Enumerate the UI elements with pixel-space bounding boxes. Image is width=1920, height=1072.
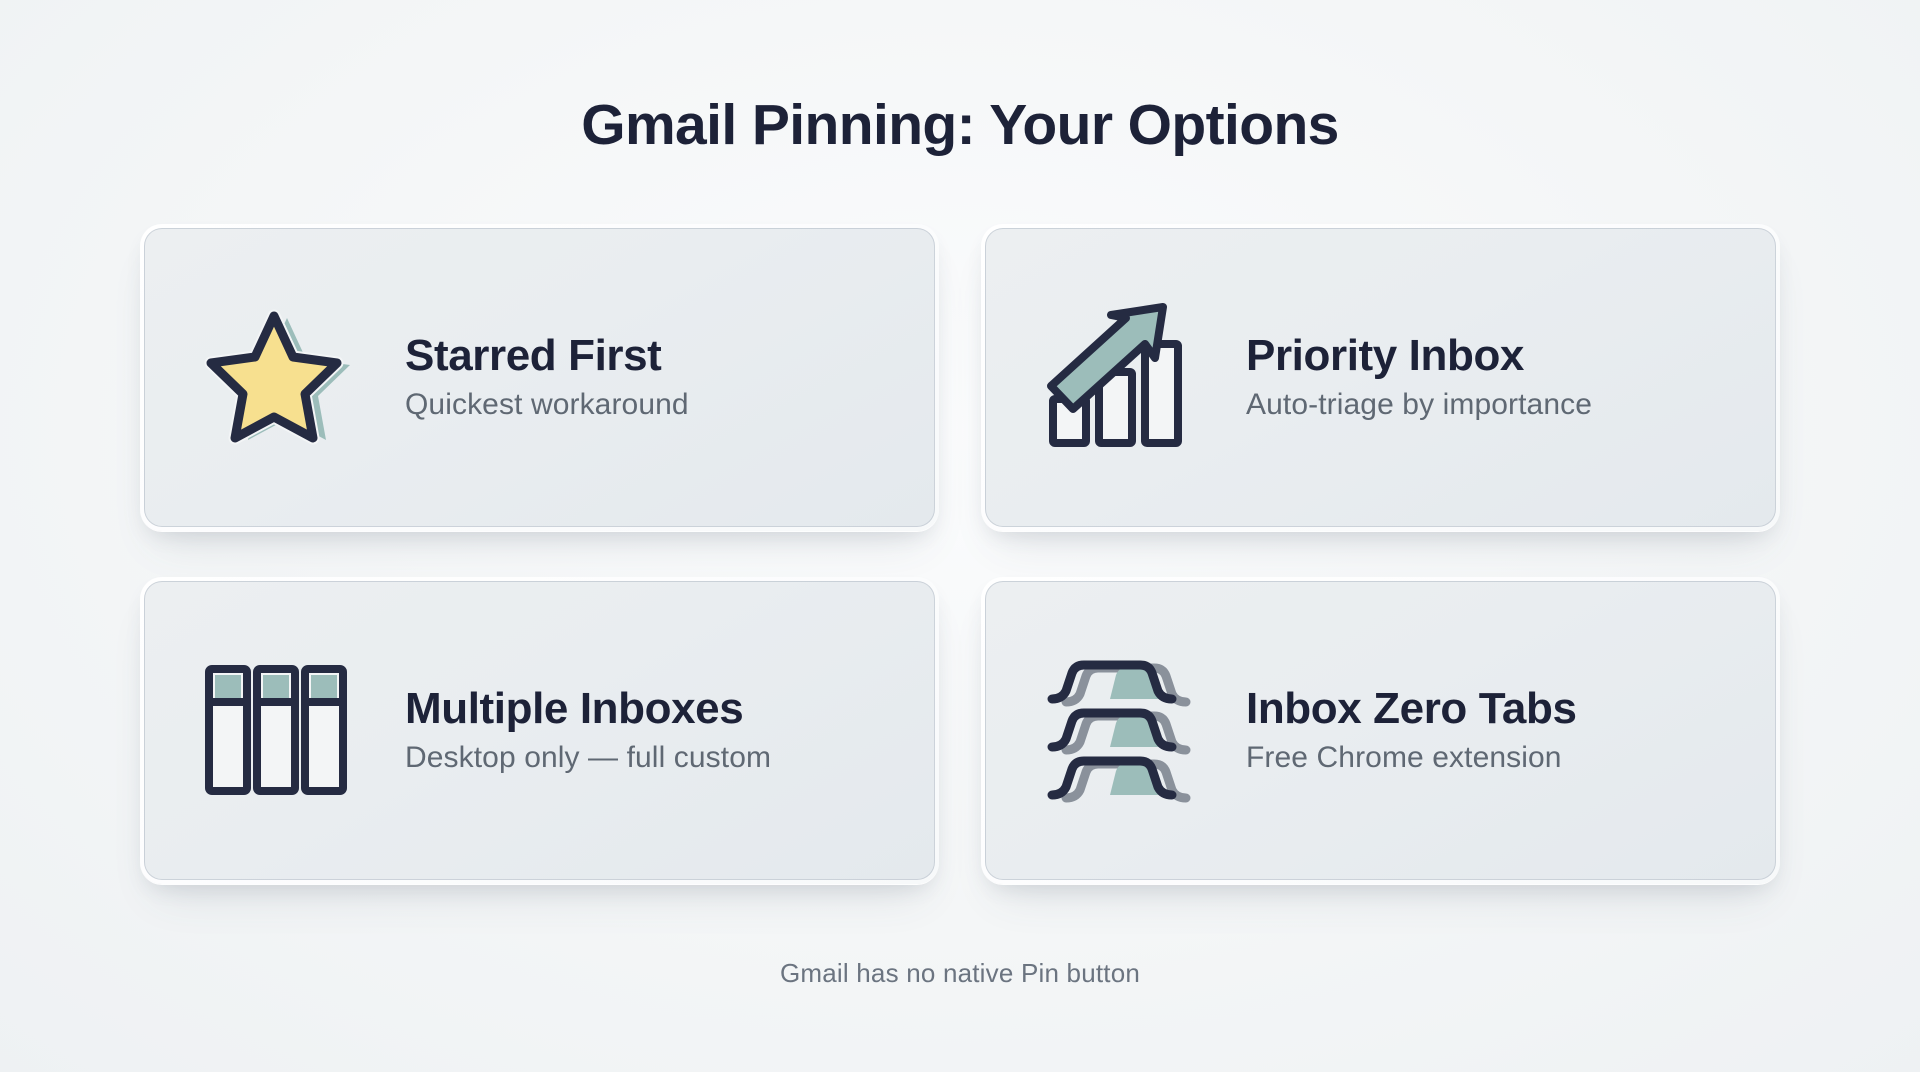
infographic-page: Gmail Pinning: Your Options Starred Firs…	[0, 0, 1920, 1072]
card-title: Multiple Inboxes	[405, 685, 771, 733]
card-text: Starred First Quickest workaround	[405, 332, 689, 423]
option-card-priority-inbox[interactable]: Priority Inbox Auto-triage by importance	[981, 224, 1780, 531]
card-inner: Priority Inbox Auto-triage by importance	[985, 228, 1776, 527]
options-grid: Starred First Quickest workaround	[140, 224, 1780, 884]
card-title: Starred First	[405, 332, 689, 380]
card-text: Inbox Zero Tabs Free Chrome extension	[1246, 685, 1577, 776]
multiple-panels-icon	[201, 655, 351, 805]
card-text: Priority Inbox Auto-triage by importance	[1246, 332, 1592, 423]
star-icon	[201, 302, 351, 452]
stacked-tabs-icon	[1042, 655, 1192, 805]
card-inner: Inbox Zero Tabs Free Chrome extension	[985, 581, 1776, 880]
footnote: Gmail has no native Pin button	[780, 958, 1140, 989]
option-card-multiple-inboxes[interactable]: Multiple Inboxes Desktop only — full cus…	[140, 577, 939, 884]
card-title: Priority Inbox	[1246, 332, 1592, 380]
card-subtitle: Auto-triage by importance	[1246, 388, 1592, 423]
card-text: Multiple Inboxes Desktop only — full cus…	[405, 685, 771, 776]
option-card-starred-first[interactable]: Starred First Quickest workaround	[140, 224, 939, 531]
card-subtitle: Free Chrome extension	[1246, 741, 1577, 776]
card-subtitle: Quickest workaround	[405, 388, 689, 423]
page-title: Gmail Pinning: Your Options	[581, 96, 1339, 156]
option-card-inbox-zero-tabs[interactable]: Inbox Zero Tabs Free Chrome extension	[981, 577, 1780, 884]
card-subtitle: Desktop only — full custom	[405, 741, 771, 776]
card-inner: Multiple Inboxes Desktop only — full cus…	[144, 581, 935, 880]
card-title: Inbox Zero Tabs	[1246, 685, 1577, 733]
card-inner: Starred First Quickest workaround	[144, 228, 935, 527]
bar-chart-arrow-icon	[1042, 302, 1192, 452]
